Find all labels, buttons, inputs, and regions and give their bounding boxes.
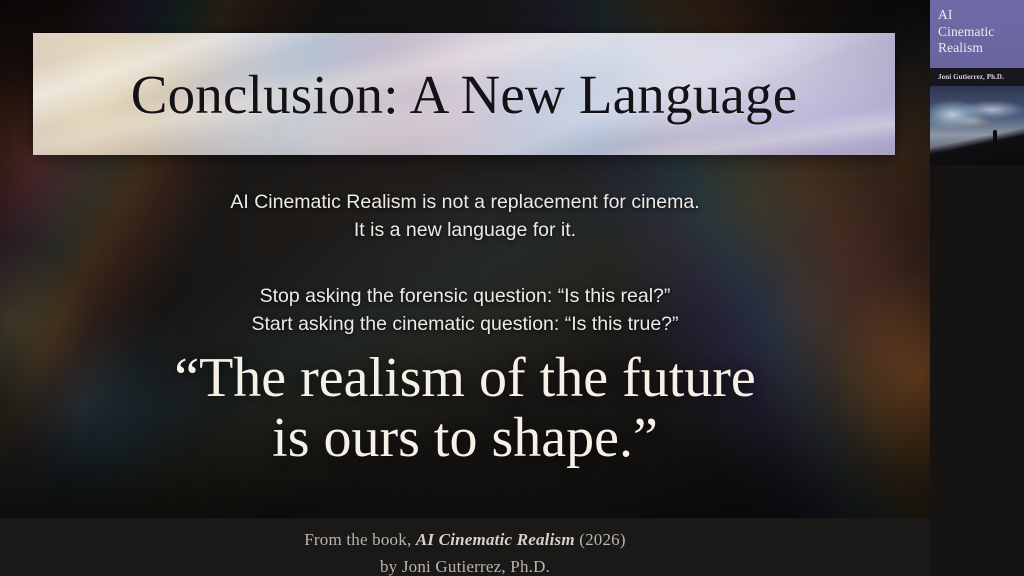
caption-suffix: (2026) (575, 530, 626, 549)
caption-line-1: From the book, AI Cinematic Realism (202… (0, 526, 930, 553)
body-line: Stop asking the forensic question: “Is t… (0, 282, 930, 310)
slide-title: Conclusion: A New Language (131, 63, 798, 126)
presentation-slide: Conclusion: A New Language AI Cinematic … (0, 0, 930, 518)
hill-silhouette (930, 86, 1024, 165)
body-line: It is a new language for it. (0, 216, 930, 244)
slide-caption: From the book, AI Cinematic Realism (202… (0, 518, 930, 576)
caption-book-title: AI Cinematic Realism (416, 530, 575, 549)
slide-body-copy: AI Cinematic Realism is not a replacemen… (0, 188, 930, 338)
caption-line-2: by Joni Gutierrez, Ph.D. (0, 553, 930, 576)
pull-quote-line-1: “The realism of the future (0, 348, 930, 408)
body-block-2: Stop asking the forensic question: “Is t… (0, 282, 930, 338)
sidebar: AI Cinematic Realism Joni Gutierrez, Ph.… (930, 0, 1024, 576)
body-line: AI Cinematic Realism is not a replacemen… (0, 188, 930, 216)
caption-prefix: From the book, (304, 530, 416, 549)
book-cover-title-line: Realism (938, 40, 1024, 57)
sidebar-empty-area (930, 165, 1024, 576)
book-cover-byline: Joni Gutierrez, Ph.D. (930, 68, 1024, 86)
book-cover-title-line: AI (938, 7, 1024, 24)
body-block-1: AI Cinematic Realism is not a replacemen… (0, 188, 930, 244)
book-cover-author: Joni Gutierrez, Ph.D. (938, 73, 1004, 81)
person-silhouette-icon (993, 130, 997, 145)
pull-quote-line-2: is ours to shape.” (0, 408, 930, 468)
body-line: Start asking the cinematic question: “Is… (0, 310, 930, 338)
book-cover-title-line: Cinematic (938, 24, 1024, 41)
title-banner: Conclusion: A New Language (33, 33, 895, 155)
book-cover-artwork (930, 86, 1024, 165)
pull-quote: “The realism of the future is ours to sh… (0, 348, 930, 468)
book-cover-title-panel: AI Cinematic Realism (930, 0, 1024, 68)
slide-viewer: Conclusion: A New Language AI Cinematic … (0, 0, 1024, 576)
book-cover-thumbnail[interactable]: AI Cinematic Realism Joni Gutierrez, Ph.… (930, 0, 1024, 165)
